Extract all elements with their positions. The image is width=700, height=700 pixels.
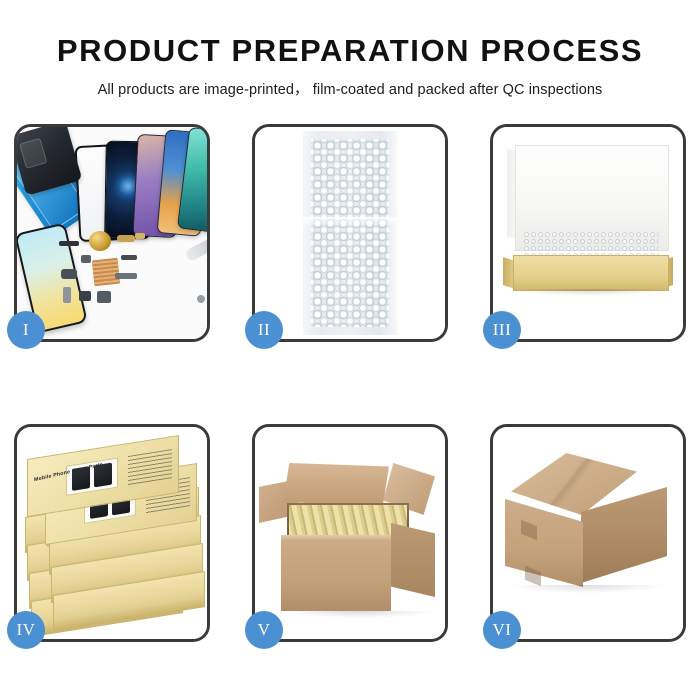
- spare-part: [81, 255, 91, 263]
- wrap-sheen: [303, 217, 397, 226]
- spare-part: [59, 241, 79, 246]
- repair-tool: [184, 236, 207, 263]
- step-card-4: Mobile Phone Spare Parts Mobile Phone Sp…: [14, 424, 210, 642]
- page-subtitle: All products are image-printed， film-coa…: [0, 78, 700, 99]
- taptic-engine-part: [89, 231, 111, 251]
- header: PRODUCT PREPARATION PROCESS All products…: [0, 0, 700, 99]
- step-badge-1: I: [7, 311, 45, 349]
- step-badge-3: III: [483, 311, 521, 349]
- spare-part: [79, 291, 91, 301]
- step-image-bubble-wrap: [255, 127, 445, 339]
- step-card-6: VI: [490, 424, 686, 642]
- step-card-3: III: [490, 124, 686, 342]
- carton-shadow: [513, 585, 663, 593]
- product-preparation-infographic: PRODUCT PREPARATION PROCESS All products…: [0, 0, 700, 700]
- box-kraft-base: [513, 255, 669, 291]
- carton-front-panel: [505, 499, 583, 587]
- steps-grid: I II III: [14, 124, 686, 642]
- box-stack: Mobile Phone Spare Parts Mobile Phone Sp…: [23, 441, 207, 631]
- spare-part: [61, 269, 77, 279]
- carton-shadow: [285, 611, 433, 618]
- bubble-wrap-sheet: [303, 131, 397, 335]
- carton-flap-back: [283, 463, 389, 507]
- box-shadow: [517, 289, 663, 296]
- step-card-2: II: [252, 124, 448, 342]
- bubble-pattern: [311, 139, 389, 327]
- spare-part: [121, 255, 137, 260]
- spare-part: [63, 287, 71, 303]
- spare-part: [197, 295, 205, 303]
- step-image-carton-sealed: [493, 427, 683, 639]
- chip-grid-part: [92, 258, 121, 287]
- step-badge-5: V: [245, 611, 283, 649]
- step-image-carton-open: [255, 427, 445, 639]
- step-badge-6: VI: [483, 611, 521, 649]
- spare-part: [135, 233, 145, 239]
- step-image-boxes-stacked: Mobile Phone Spare Parts Mobile Phone Sp…: [17, 427, 207, 639]
- box-print-lines: [128, 449, 172, 486]
- carton-front-rim: [281, 535, 391, 541]
- step-card-5: V: [252, 424, 448, 642]
- step-card-1: I: [14, 124, 210, 342]
- carton-side-panel: [391, 523, 435, 597]
- carton-front-panel: [281, 539, 391, 611]
- spare-part: [115, 273, 137, 279]
- step-badge-4: IV: [7, 611, 45, 649]
- box-edge: [54, 598, 204, 631]
- spare-part: [97, 291, 111, 303]
- page-title: PRODUCT PREPARATION PROCESS: [0, 34, 700, 68]
- step-image-products-parts: [17, 127, 207, 339]
- step-badge-2: II: [245, 311, 283, 349]
- step-image-inner-box-open: [493, 127, 683, 339]
- parts-scene: [17, 127, 207, 339]
- spare-part: [117, 235, 135, 242]
